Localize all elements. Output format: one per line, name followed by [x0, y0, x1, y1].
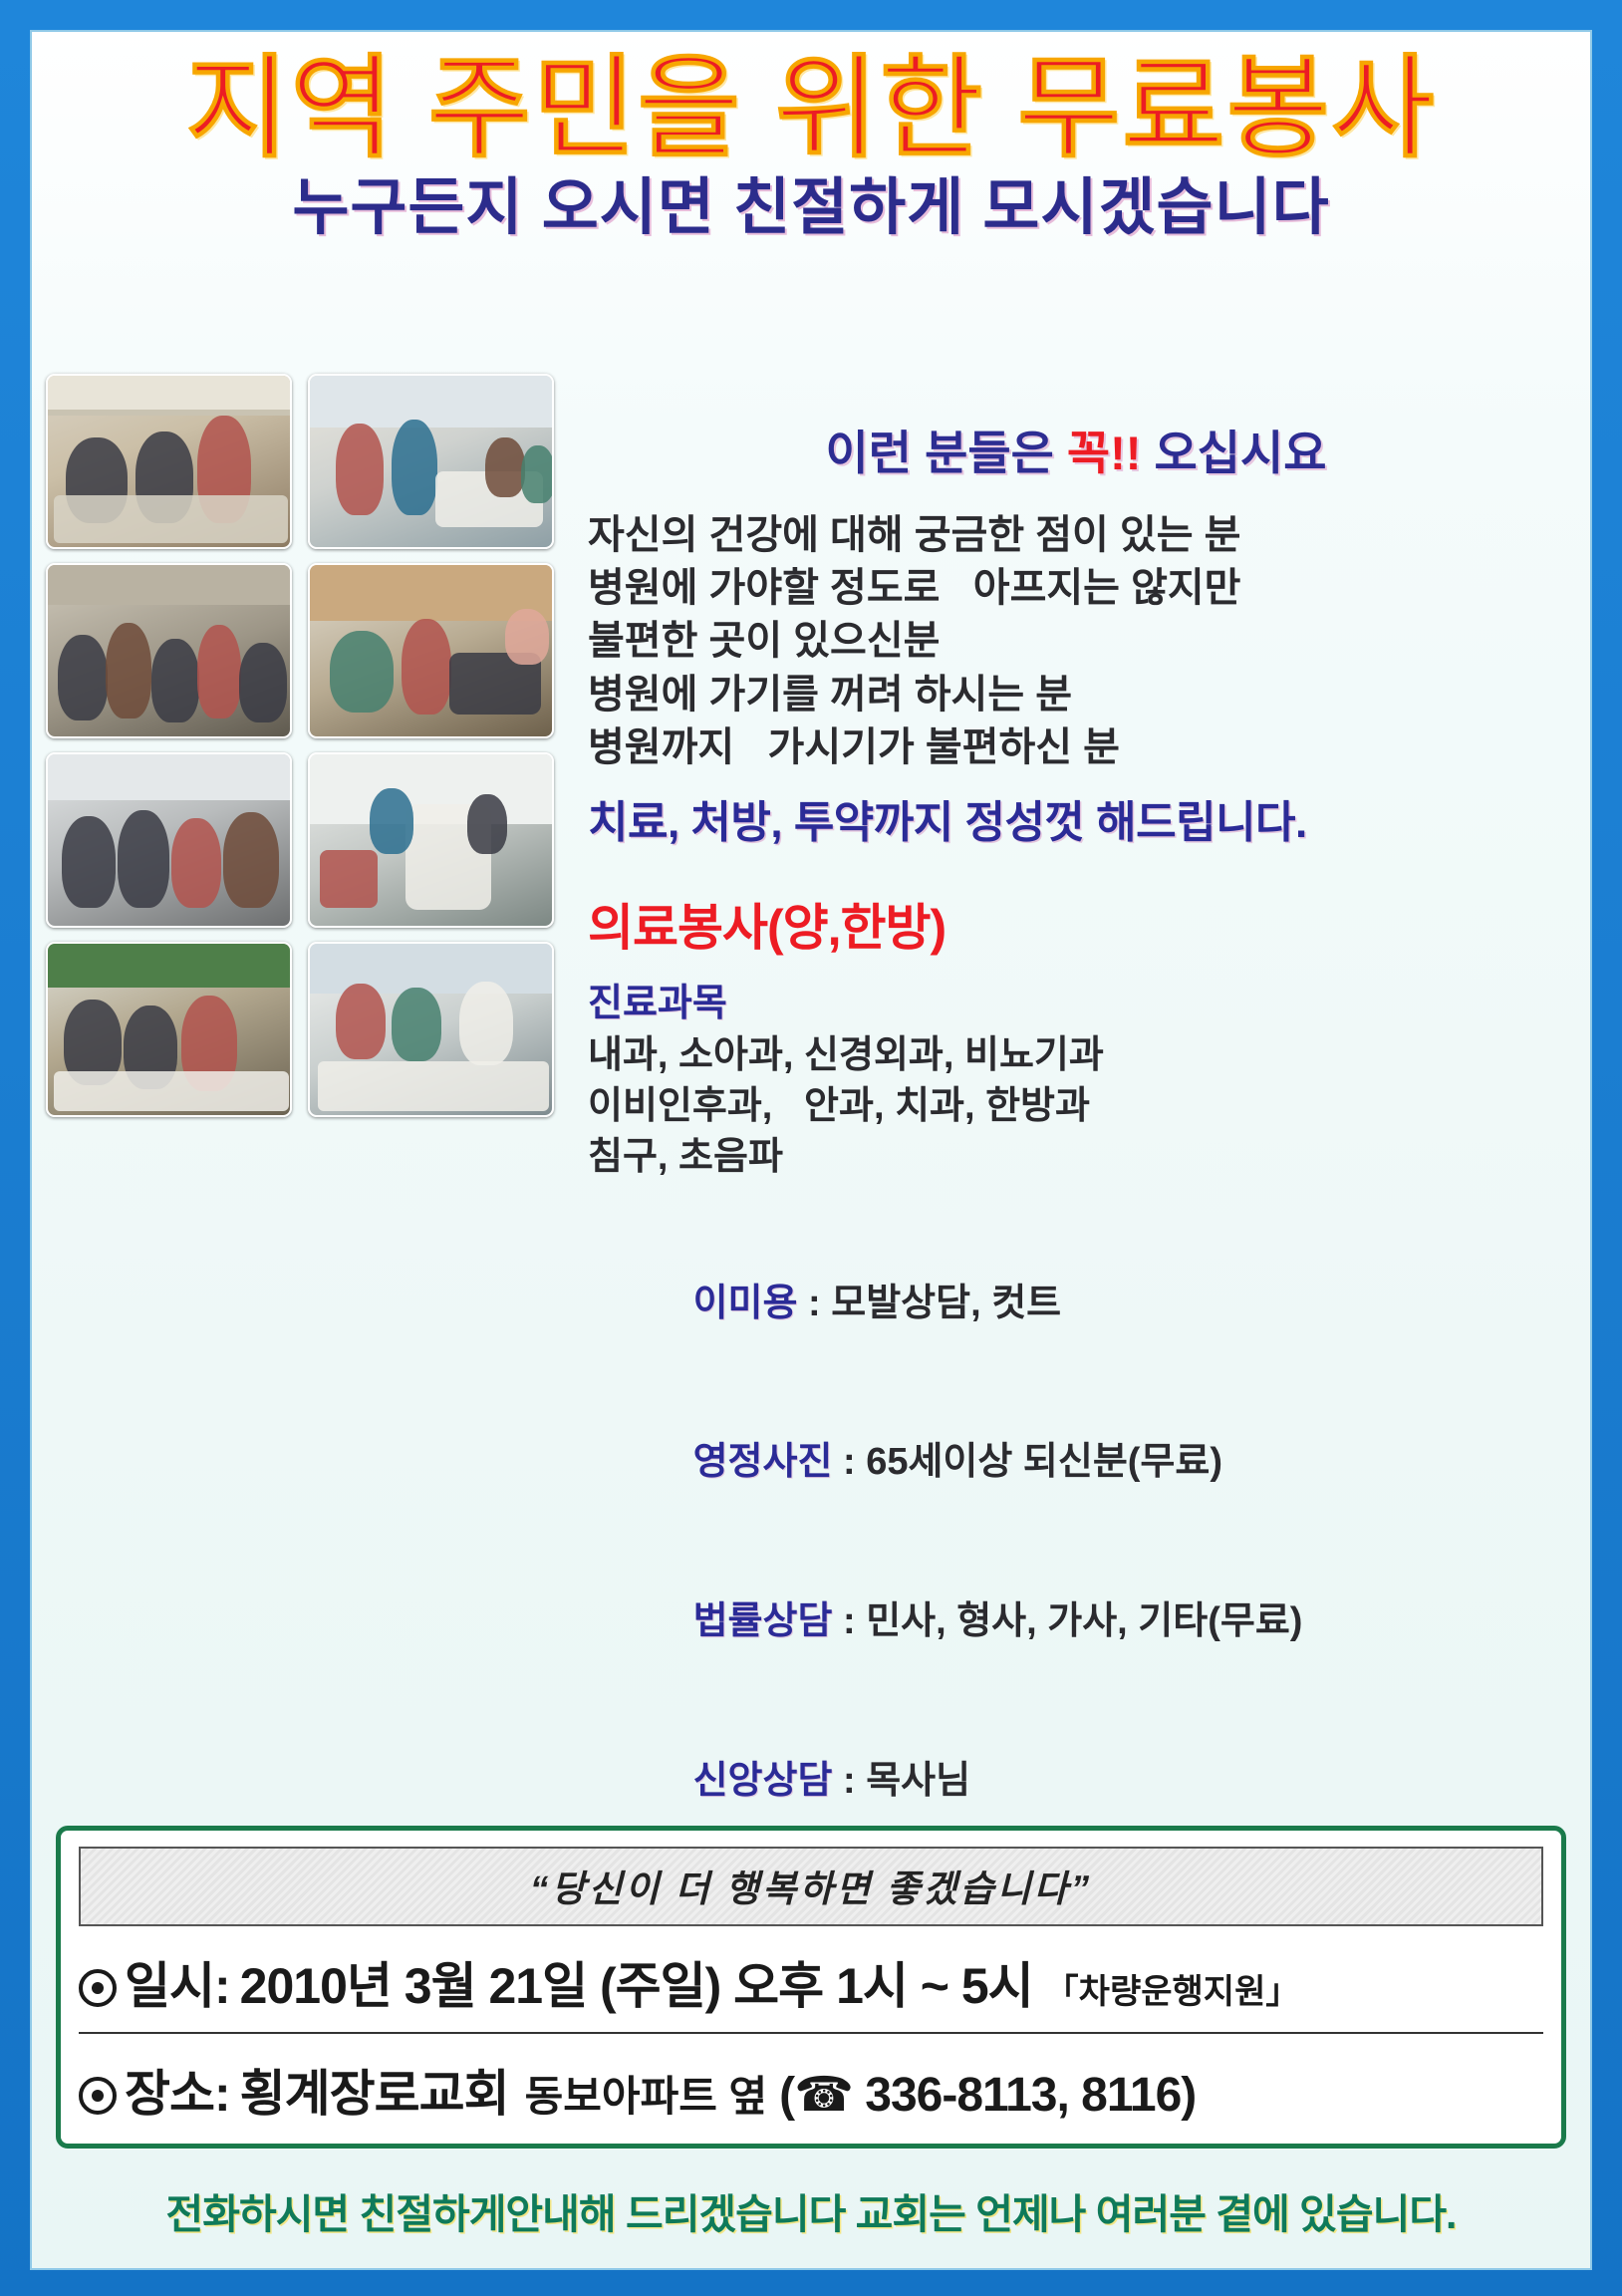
- event-date-label: 일시:: [125, 1946, 230, 2018]
- photo-haircut-service: [308, 752, 554, 928]
- photo-waiting-congregation: [46, 563, 292, 738]
- photo-pharmacy-counter: [308, 942, 554, 1117]
- service-key-beauty: 이미용: [693, 1283, 798, 1324]
- invite-line-2: 병원에 가야할 정도로 아프지는 않지만: [588, 562, 1564, 615]
- photo-consultation-table: [46, 942, 292, 1117]
- photo-grid: [46, 374, 554, 1117]
- invite-highlight: 치료, 처방, 투약까지 정성껏 해드립니다.: [588, 786, 1564, 850]
- poster-paper: 지역 주민을 위한 무료봉사 누구든지 오시면 친절하게 모시겠습니다: [30, 30, 1592, 2270]
- slogan-bar: “당신이 더 행복하면 좋겠습니다”: [79, 1847, 1543, 1926]
- invite-header-accent: 꼭!!: [1067, 427, 1142, 479]
- service-value-legal: : 민사, 형사, 가사, 기타(무료): [832, 1600, 1302, 1642]
- bullet-icon: [79, 2077, 117, 2115]
- event-phone[interactable]: (☎ 336-8113, 8116): [779, 2067, 1196, 2123]
- service-key-legal: 법률상담: [693, 1600, 833, 1642]
- event-place-detail: 동보아파트 옆: [525, 2063, 768, 2124]
- invite-line-1: 자신의 건강에 대해 궁금한 점이 있는 분: [588, 509, 1564, 562]
- slogan-text: “당신이 더 행복하면 좋겠습니다”: [530, 1868, 1092, 1909]
- poster-title-sub: 누구든지 오시면 친절하게 모시겠습니다: [30, 174, 1592, 242]
- service-row-beauty: 이미용 : 모발상담, 컷트: [588, 1225, 1564, 1384]
- service-value-beauty: : 모발상담, 컷트: [797, 1283, 1061, 1324]
- poster-root: 지역 주민을 위한 무료봉사 누구든지 오시면 친절하게 모시겠습니다: [0, 0, 1622, 2296]
- medical-section-title: 의료봉사(양,한방): [588, 888, 1564, 960]
- service-value-portrait: : 65세이상 되신분(무료): [832, 1441, 1222, 1483]
- poster-footer: 전화하시면 친절하게안내해 드리겠습니다 교회는 언제나 여러분 곁에 있습니다…: [30, 2180, 1592, 2240]
- service-value-faith: : 목사님: [832, 1760, 970, 1802]
- photo-treatment-room: [308, 374, 554, 549]
- medical-subject-label: 진료과목: [588, 972, 1564, 1026]
- event-place-line: 장소: 횡계장로교회 동보아파트 옆 (☎ 336-8113, 8116): [79, 2054, 1543, 2126]
- invite-header-after: 오십시요: [1141, 427, 1326, 479]
- invite-line-4: 병원에 가기를 꺼려 하시는 분: [588, 669, 1564, 721]
- service-row-portrait: 영정사진 : 65세이상 되신분(무료): [588, 1383, 1564, 1543]
- invite-line-5: 병원까지 가시기가 불편하신 분: [588, 721, 1564, 774]
- medical-subject-line-3: 침구, 초음파: [588, 1132, 1564, 1183]
- poster-title-main: 지역 주민을 위한 무료봉사: [30, 50, 1592, 168]
- service-key-portrait: 영정사진: [693, 1441, 833, 1483]
- info-divider: [79, 2032, 1543, 2034]
- bullet-icon: [79, 1969, 117, 2007]
- event-date-value: 2010년 3월 21일 (주일) 오후 1시 ~ 5시: [240, 1946, 1033, 2018]
- event-date-line: 일시: 2010년 3월 21일 (주일) 오후 1시 ~ 5시 「차량운행지원…: [79, 1946, 1543, 2018]
- event-date-note: 「차량운행지원」: [1045, 1964, 1300, 2013]
- medical-subject-line-1: 내과, 소아과, 신경외과, 비뇨기과: [588, 1030, 1564, 1081]
- text-column: 이런 분들은 꼭!! 오십시요 자신의 건강에 대해 궁금한 점이 있는 분 병…: [588, 319, 1564, 2085]
- service-key-faith: 신앙상담: [693, 1760, 833, 1802]
- service-row-legal: 법률상담 : 민사, 형사, 가사, 기타(무료): [588, 1543, 1564, 1702]
- event-place-label: 장소:: [125, 2054, 230, 2126]
- medical-subject-line-2: 이비인후과, 안과, 치과, 한방과: [588, 1081, 1564, 1132]
- poster-headline: 지역 주민을 위한 무료봉사 누구든지 오시면 친절하게 모시겠습니다: [30, 50, 1592, 242]
- invite-header-before: 이런 분들은: [826, 427, 1067, 479]
- invite-line-3: 불편한 곳이 있으신분: [588, 615, 1564, 668]
- invite-header: 이런 분들은 꼭!! 오십시요: [588, 415, 1564, 483]
- services-spacer: [588, 1183, 1564, 1225]
- photo-seated-patients: [46, 752, 292, 928]
- photo-registration-desk: [46, 374, 292, 549]
- photo-acupuncture-session: [308, 563, 554, 738]
- event-info-box: “당신이 더 행복하면 좋겠습니다” 일시: 2010년 3월 21일 (주일)…: [56, 1826, 1566, 2149]
- event-place-value: 횡계장로교회: [240, 2054, 509, 2126]
